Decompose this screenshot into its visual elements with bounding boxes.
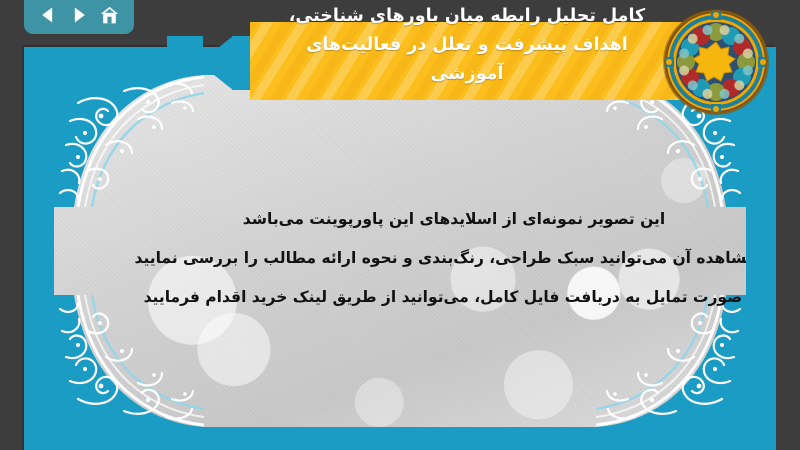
slide-frame: این تصویر نمونه‌ای از اسلایدهای این پاور… xyxy=(24,47,776,450)
slide-viewer: این تصویر نمونه‌ای از اسلایدهای این پاور… xyxy=(0,0,800,450)
corner-ornament-top-right xyxy=(596,75,746,207)
title-line-1: کامل تحلیل رابطه میان باورهای شناختی، xyxy=(232,2,702,31)
slide-body-text: این تصویر نمونه‌ای از اسلایدهای این پاور… xyxy=(114,200,746,317)
navigation-bar xyxy=(24,0,134,34)
home-icon xyxy=(99,5,120,26)
back-icon xyxy=(38,5,58,25)
forward-icon xyxy=(69,5,89,25)
body-line-2: با مشاهده آن می‌توانید سبک طراحی، رنگ‌بن… xyxy=(114,239,746,278)
body-line-1: این تصویر نمونه‌ای از اسلایدهای این پاور… xyxy=(114,200,746,239)
corner-ornament-top-left xyxy=(54,75,204,207)
forward-button[interactable] xyxy=(67,3,91,27)
back-button[interactable] xyxy=(36,3,60,27)
home-button[interactable] xyxy=(98,3,122,27)
body-line-3: در صورت تمایل به دریافت فایل کامل، می‌تو… xyxy=(114,278,746,317)
slide-content-area: این تصویر نمونه‌ای از اسلایدهای این پاور… xyxy=(54,75,746,427)
